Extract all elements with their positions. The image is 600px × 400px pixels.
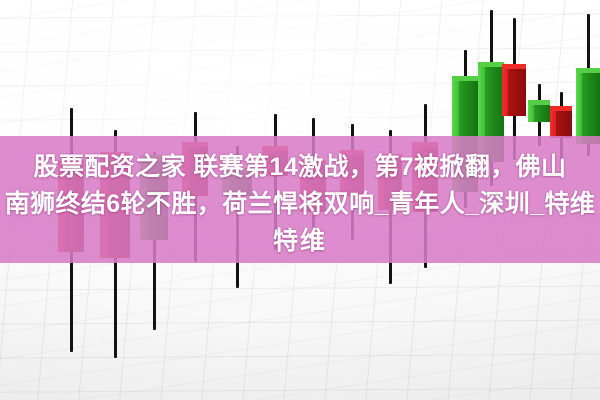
candlestick-top-cap <box>502 64 526 69</box>
candlestick-top-cap <box>550 106 572 111</box>
candlestick-top-cap <box>478 62 504 67</box>
candlestick-top-cap <box>528 100 550 105</box>
candlestick-top-cap <box>452 76 478 81</box>
candlestick-body <box>550 106 572 138</box>
caption-line-2: 南狮终结6轮不胜，荷兰悍将双响_青年人_深圳_特维 <box>0 186 600 223</box>
candlestick-top-cap <box>576 68 600 73</box>
candlestick-body <box>528 100 550 122</box>
candlestick-body <box>576 68 600 144</box>
candlestick-left-face <box>576 68 582 144</box>
screenshot-canvas: 股票配资之家 联赛第14激战，第7被掀翻，佛山 南狮终结6轮不胜，荷兰悍将双响_… <box>0 0 600 400</box>
candlestick-left-face <box>502 64 508 116</box>
headline-caption: 股票配资之家 联赛第14激战，第7被掀翻，佛山 南狮终结6轮不胜，荷兰悍将双响_… <box>0 149 600 260</box>
caption-line-1: 股票配资之家 联赛第14激战，第7被掀翻，佛山 <box>0 149 600 186</box>
candlestick-body <box>502 64 526 116</box>
caption-line-3: 特维 <box>0 223 600 260</box>
